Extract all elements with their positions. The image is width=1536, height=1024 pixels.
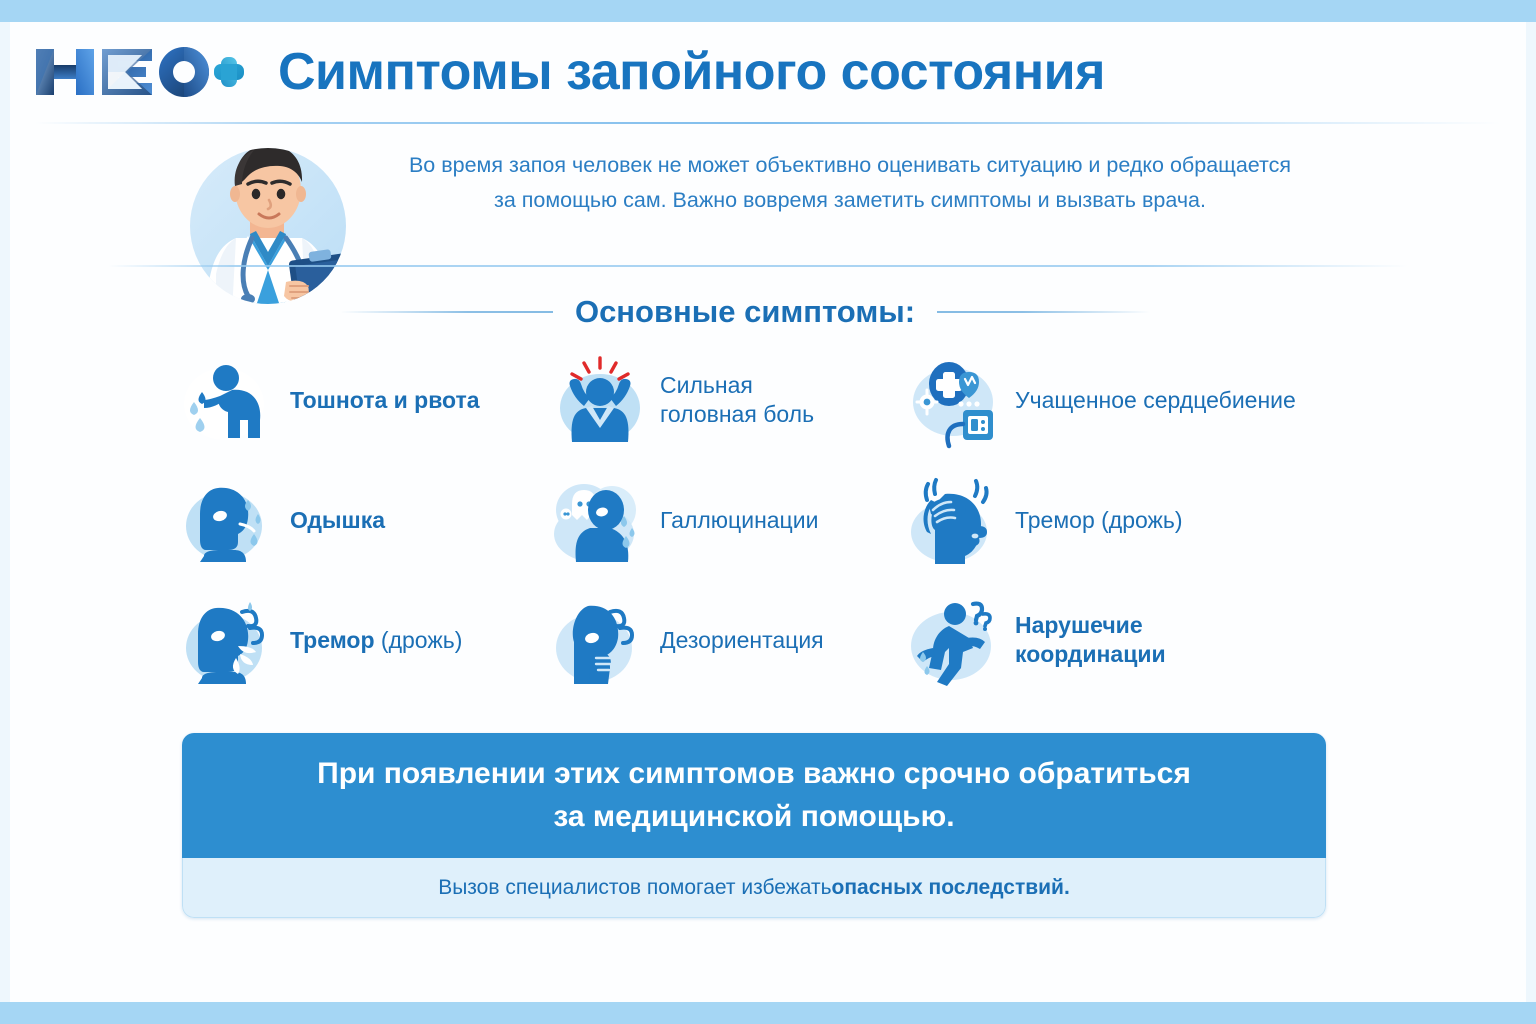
symptom-label-hallucinations: Галлюцинации bbox=[660, 506, 818, 535]
symptom-label-tremor-sweat-extra: (дрожь) bbox=[381, 627, 462, 653]
infographic-poster: Симптомы запойного состояния bbox=[0, 0, 1536, 1024]
section-rule-right bbox=[937, 311, 1150, 313]
intro-divider bbox=[108, 265, 1408, 267]
symptoms-grid: Тошнота и рвота bbox=[180, 340, 1340, 700]
symptom-item-tremor-head: Тремор (дрожь) bbox=[905, 460, 1340, 580]
intro-line-1: Во время запоя человек не может объектив… bbox=[374, 148, 1326, 183]
heartbeat-monitor-icon bbox=[905, 350, 1005, 450]
symptom-item-hallucinations: Галлюцинации bbox=[550, 460, 905, 580]
top-decorative-band bbox=[0, 0, 1536, 22]
symptom-item-vomiting: Тошнота и рвота bbox=[180, 340, 550, 460]
left-edge-strip bbox=[0, 22, 10, 1002]
section-rule-left bbox=[340, 311, 553, 313]
symptom-label-disorientation: Дезориентация bbox=[660, 626, 824, 655]
symptom-item-tremor-sweat: Тремор (дрожь) bbox=[180, 580, 550, 700]
callout-sub-message: Вызов специалистов помогает избежать опа… bbox=[182, 858, 1326, 918]
header-divider bbox=[35, 122, 1501, 124]
page-title: Симптомы запойного состояния bbox=[278, 46, 1105, 98]
bottom-decorative-band bbox=[0, 1002, 1536, 1024]
callout-sub-prefix: Вызов специалистов помогает избежать bbox=[438, 876, 831, 900]
callout-sub-highlight: опасных последствий. bbox=[832, 876, 1070, 900]
intro-block: Во время запоя человек не может объектив… bbox=[176, 132, 1356, 267]
symptom-label-coordination-line1: Нарушечие bbox=[1015, 611, 1166, 640]
symptom-item-dyspnea: Одышка bbox=[180, 460, 550, 580]
callout-main-line2: за медицинской помощью. bbox=[553, 796, 954, 839]
symptom-label-vomiting: Тошнота и рвота bbox=[290, 386, 480, 415]
vomiting-person-icon bbox=[180, 350, 280, 450]
callout-box: При появлении этих симптомов важно срочн… bbox=[182, 733, 1326, 918]
neo-plus-logo-icon bbox=[30, 41, 248, 103]
callout-main-message: При появлении этих симптомов важно срочн… bbox=[182, 733, 1326, 858]
shortness-of-breath-icon bbox=[180, 470, 280, 570]
symptom-label-headache-line2: головная боль bbox=[660, 400, 814, 429]
doctor-avatar-icon bbox=[176, 134, 362, 312]
poster-header: Симптомы запойного состояния bbox=[0, 22, 1536, 122]
symptom-item-disorientation: Дезориентация bbox=[550, 580, 905, 700]
symptom-label-tremor-sweat: Тремор (дрожь) bbox=[290, 626, 462, 655]
intro-paragraph: Во время запоя человек не может объектив… bbox=[362, 132, 1356, 218]
symptom-item-tachycardia: Учащенное сердцебиение bbox=[905, 340, 1340, 460]
section-heading-label: Основные симптомы: bbox=[575, 294, 915, 330]
symptom-label-coordination-line2: координации bbox=[1015, 640, 1166, 669]
tremor-sweating-icon bbox=[180, 590, 280, 690]
symptom-label-tachycardia: Учащенное сердцебиение bbox=[1015, 386, 1296, 415]
intro-line-2: за помощью сам. Важно вовремя заметить с… bbox=[374, 183, 1326, 218]
section-heading: Основные симптомы: bbox=[340, 288, 1150, 336]
hallucination-ghost-icon bbox=[550, 470, 650, 570]
headache-person-icon bbox=[550, 350, 650, 450]
symptom-label-coordination: Нарушечие координации bbox=[1015, 611, 1166, 669]
symptom-label-dyspnea: Одышка bbox=[290, 506, 385, 535]
tremor-head-hands-icon bbox=[905, 470, 1005, 570]
coordination-loss-icon bbox=[905, 590, 1005, 690]
symptom-label-tremor-head: Тремор (дрожь) bbox=[1015, 506, 1183, 535]
symptom-item-coordination: Нарушечие координации bbox=[905, 580, 1340, 700]
symptom-item-headache: Сильная головная боль bbox=[550, 340, 905, 460]
symptom-label-tremor-sweat-main: Тремор bbox=[290, 627, 375, 653]
symptom-label-headache: Сильная головная боль bbox=[660, 371, 814, 429]
right-edge-strip bbox=[1526, 22, 1536, 1002]
symptom-label-headache-line1: Сильная bbox=[660, 371, 814, 400]
disorientation-icon bbox=[550, 590, 650, 690]
callout-main-line1: При появлении этих симптомов важно срочн… bbox=[317, 753, 1191, 796]
